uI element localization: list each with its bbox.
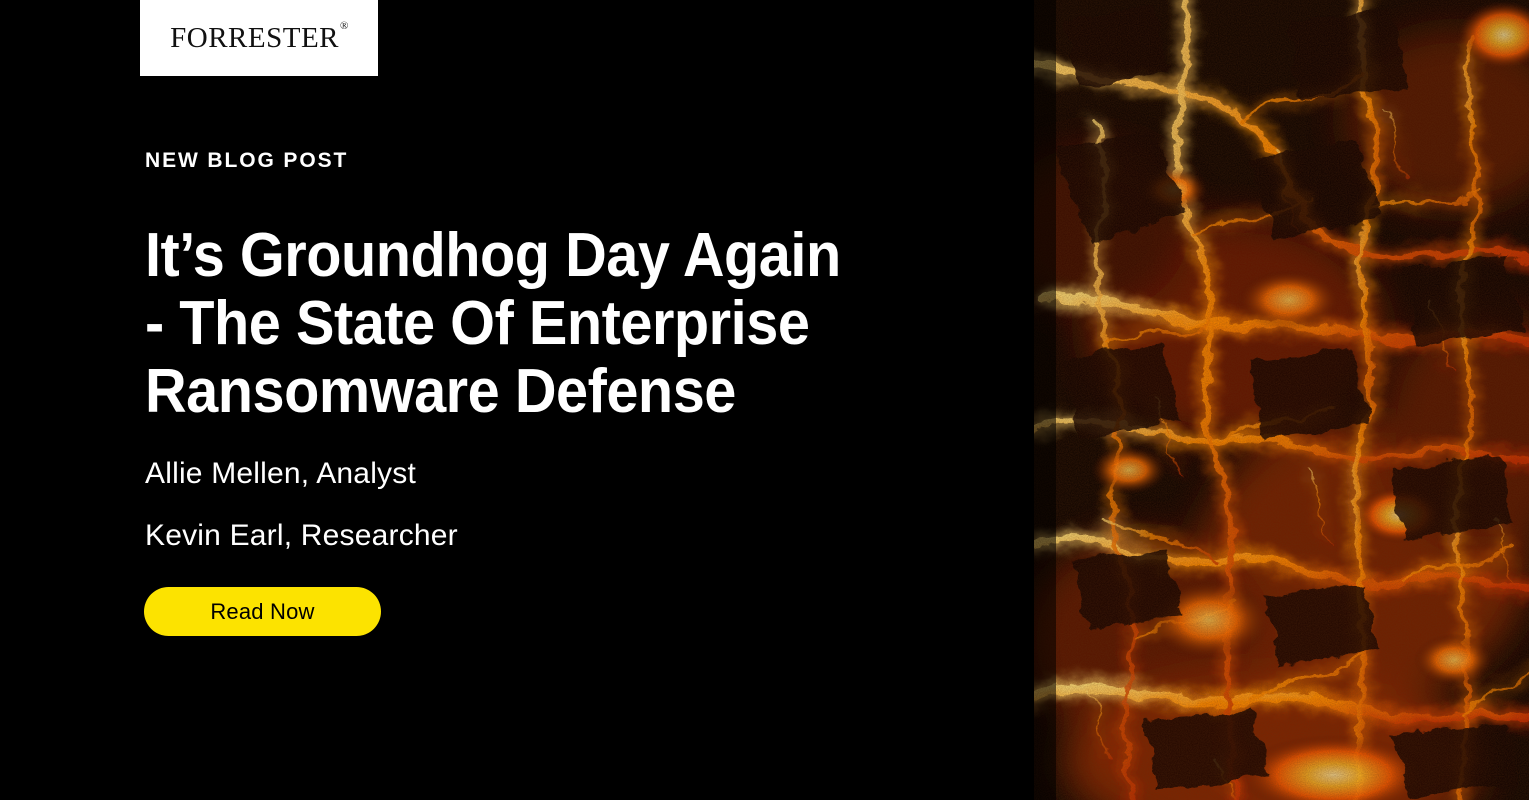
promo-banner: FORRESTER® NEW BLOG POST It’s Groundhog … xyxy=(0,0,1529,800)
author-researcher: Kevin Earl, Researcher xyxy=(145,521,458,551)
logo-wordmark: FORRESTER® xyxy=(170,24,348,53)
content-panel: FORRESTER® NEW BLOG POST It’s Groundhog … xyxy=(0,0,1034,800)
headline-line-1: It’s Groundhog Day Again xyxy=(145,222,945,290)
page-title: It’s Groundhog Day Again - The State Of … xyxy=(145,222,945,426)
read-now-button[interactable]: Read Now xyxy=(144,587,381,636)
registered-trademark-icon: ® xyxy=(340,20,349,32)
logo-text: FORRESTER xyxy=(170,22,339,54)
forrester-logo[interactable]: FORRESTER® xyxy=(140,0,378,76)
headline-line-2: - The State Of Enterprise xyxy=(145,290,945,358)
lava-image xyxy=(1034,0,1529,800)
lava-illustration xyxy=(1034,0,1529,800)
author-analyst: Allie Mellen, Analyst xyxy=(145,459,416,489)
eyebrow-label: NEW BLOG POST xyxy=(145,150,348,171)
headline-line-3: Ransomware Defense xyxy=(145,358,945,426)
